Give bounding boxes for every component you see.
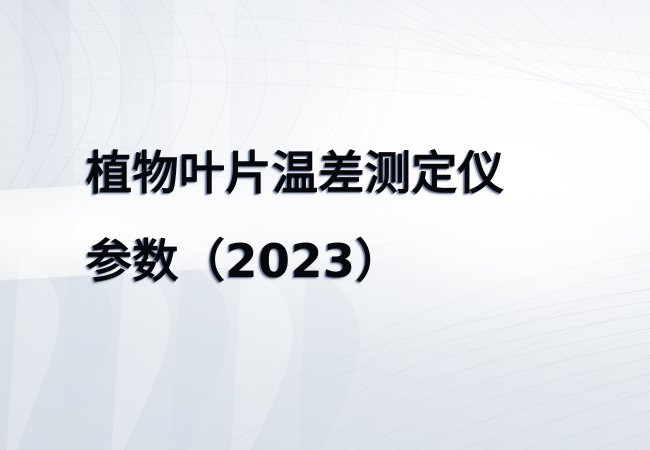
slide-canvas: 植物叶片温差测定仪 参数（2023） [0,0,650,450]
slide-title-line-2: 参数（2023） [86,216,606,306]
slide-title-line-1: 植物叶片温差测定仪 [86,128,606,218]
slide-title-block: 植物叶片温差测定仪 参数（2023） [86,128,606,306]
